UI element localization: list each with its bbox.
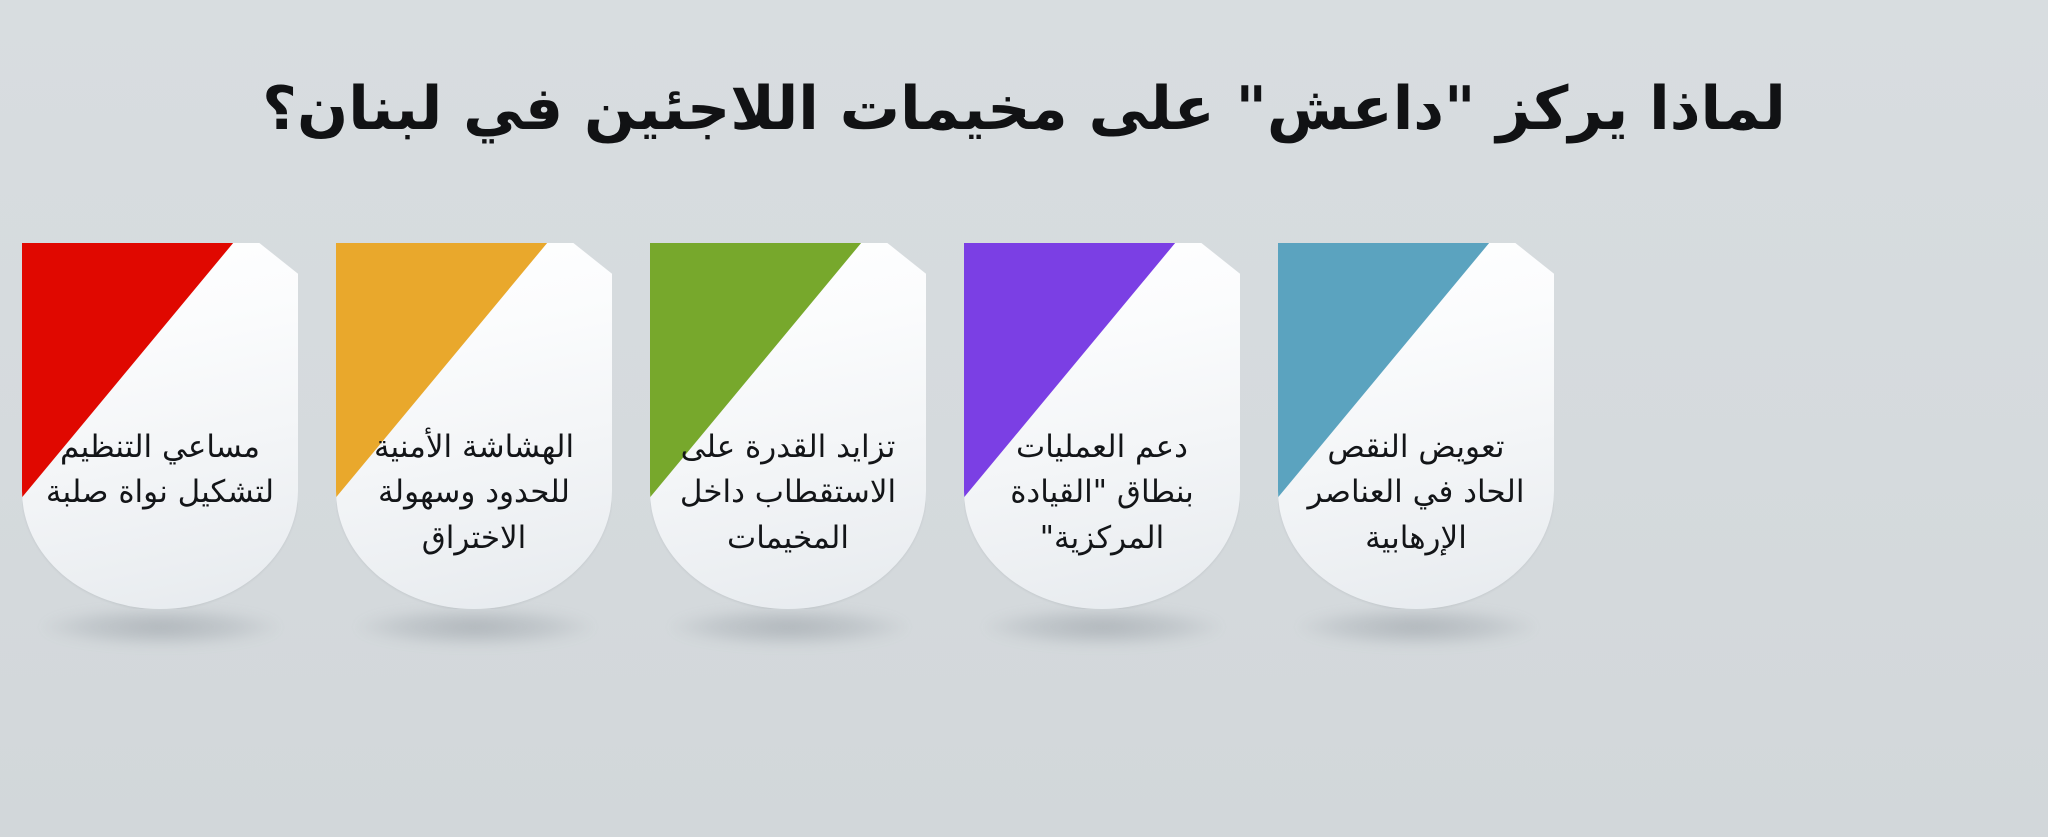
card-drop-shadow — [356, 607, 594, 647]
card-drop-shadow — [1298, 607, 1536, 647]
shield-card-row: مساعي التنظيم لتشكيل نواة صلبة الهشاشة ا… — [0, 243, 2048, 663]
shield-card-label: دعم العمليات بنطاق "القيادة المركزية" — [964, 425, 1240, 561]
shield-card-3[interactable]: تزايد القدرة على الاستقطاب داخل المخيمات — [650, 243, 926, 643]
shield-card-label: تعويض النقص الحاد في العناصر الإرهابية — [1278, 425, 1554, 561]
infographic-canvas: لماذا يركز "داعش" على مخيمات اللاجئين في… — [0, 0, 2048, 837]
shield-card-label: مساعي التنظيم لتشكيل نواة صلبة — [22, 425, 298, 516]
shield-shape: دعم العمليات بنطاق "القيادة المركزية" — [964, 243, 1240, 609]
title-bar: لماذا يركز "داعش" على مخيمات اللاجئين في… — [0, 0, 2048, 230]
shield-card-1[interactable]: مساعي التنظيم لتشكيل نواة صلبة — [22, 243, 298, 643]
shield-card-4[interactable]: دعم العمليات بنطاق "القيادة المركزية" — [964, 243, 1240, 643]
card-drop-shadow — [670, 607, 908, 647]
shield-card-5[interactable]: تعويض النقص الحاد في العناصر الإرهابية — [1278, 243, 1554, 643]
shield-card-label: تزايد القدرة على الاستقطاب داخل المخيمات — [650, 425, 926, 561]
page-title: لماذا يركز "داعش" على مخيمات اللاجئين في… — [262, 72, 1786, 147]
card-drop-shadow — [42, 607, 280, 647]
shield-shape: مساعي التنظيم لتشكيل نواة صلبة — [22, 243, 298, 609]
shield-card-2[interactable]: الهشاشة الأمنية للحدود وسهولة الاختراق — [336, 243, 612, 643]
shield-card-label: الهشاشة الأمنية للحدود وسهولة الاختراق — [336, 425, 612, 561]
shield-shape: تعويض النقص الحاد في العناصر الإرهابية — [1278, 243, 1554, 609]
shield-shape: الهشاشة الأمنية للحدود وسهولة الاختراق — [336, 243, 612, 609]
card-drop-shadow — [984, 607, 1222, 647]
shield-shape: تزايد القدرة على الاستقطاب داخل المخيمات — [650, 243, 926, 609]
